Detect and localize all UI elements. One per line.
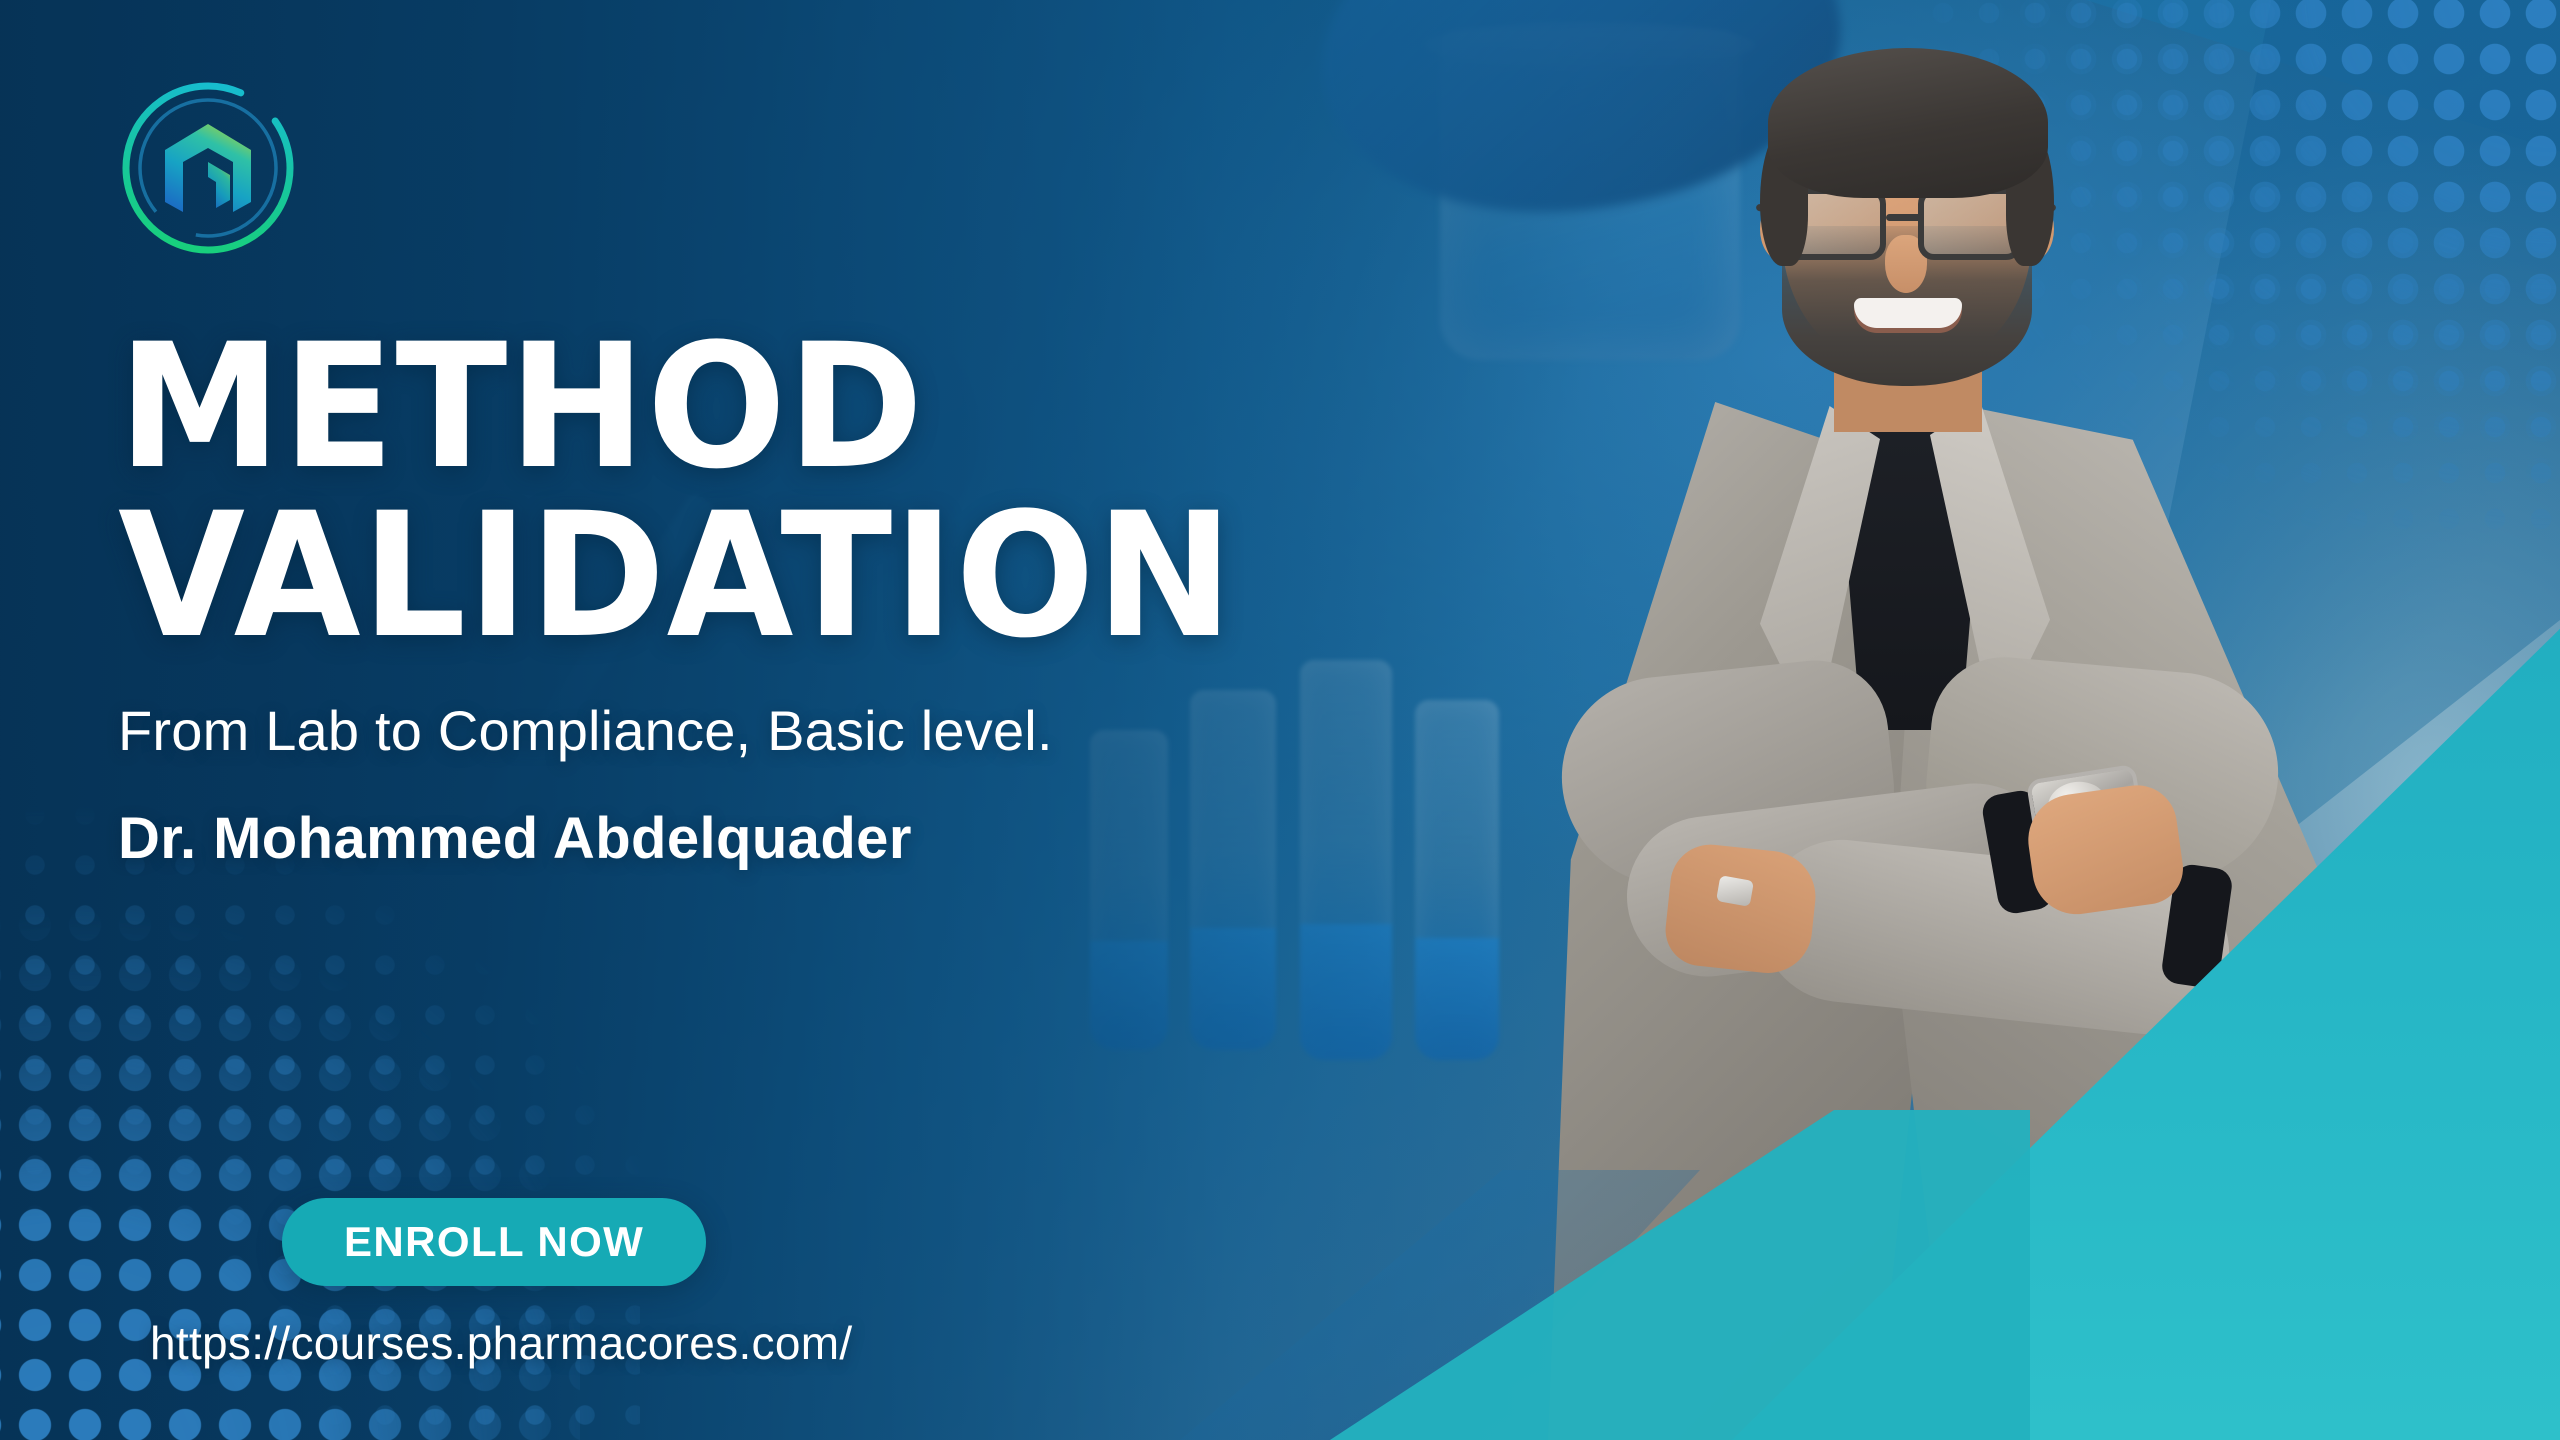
hand-right [1662,841,1820,978]
enroll-now-button[interactable]: ENROLL NOW [282,1198,706,1286]
ring [1716,875,1754,907]
brand-logo[interactable] [118,78,298,258]
headline-line-1: METHOD [118,330,1454,485]
smile [1854,298,1962,328]
course-site-url[interactable]: https://courses.pharmacores.com/ [150,1316,852,1370]
headline-block: METHOD VALIDATION From Lab to Compliance… [118,330,1378,872]
course-promo-banner: METHOD VALIDATION From Lab to Compliance… [0,0,2560,1440]
hair [1768,48,2048,198]
presenter-name: Dr. Mohammed Abdelquader [118,805,1378,872]
course-subtitle: From Lab to Compliance, Basic level. [118,698,1378,763]
glasses-bridge [1886,214,1924,221]
headline-line-2: VALIDATION [118,499,1454,654]
pharmacores-monogram-logo-icon [118,78,298,258]
